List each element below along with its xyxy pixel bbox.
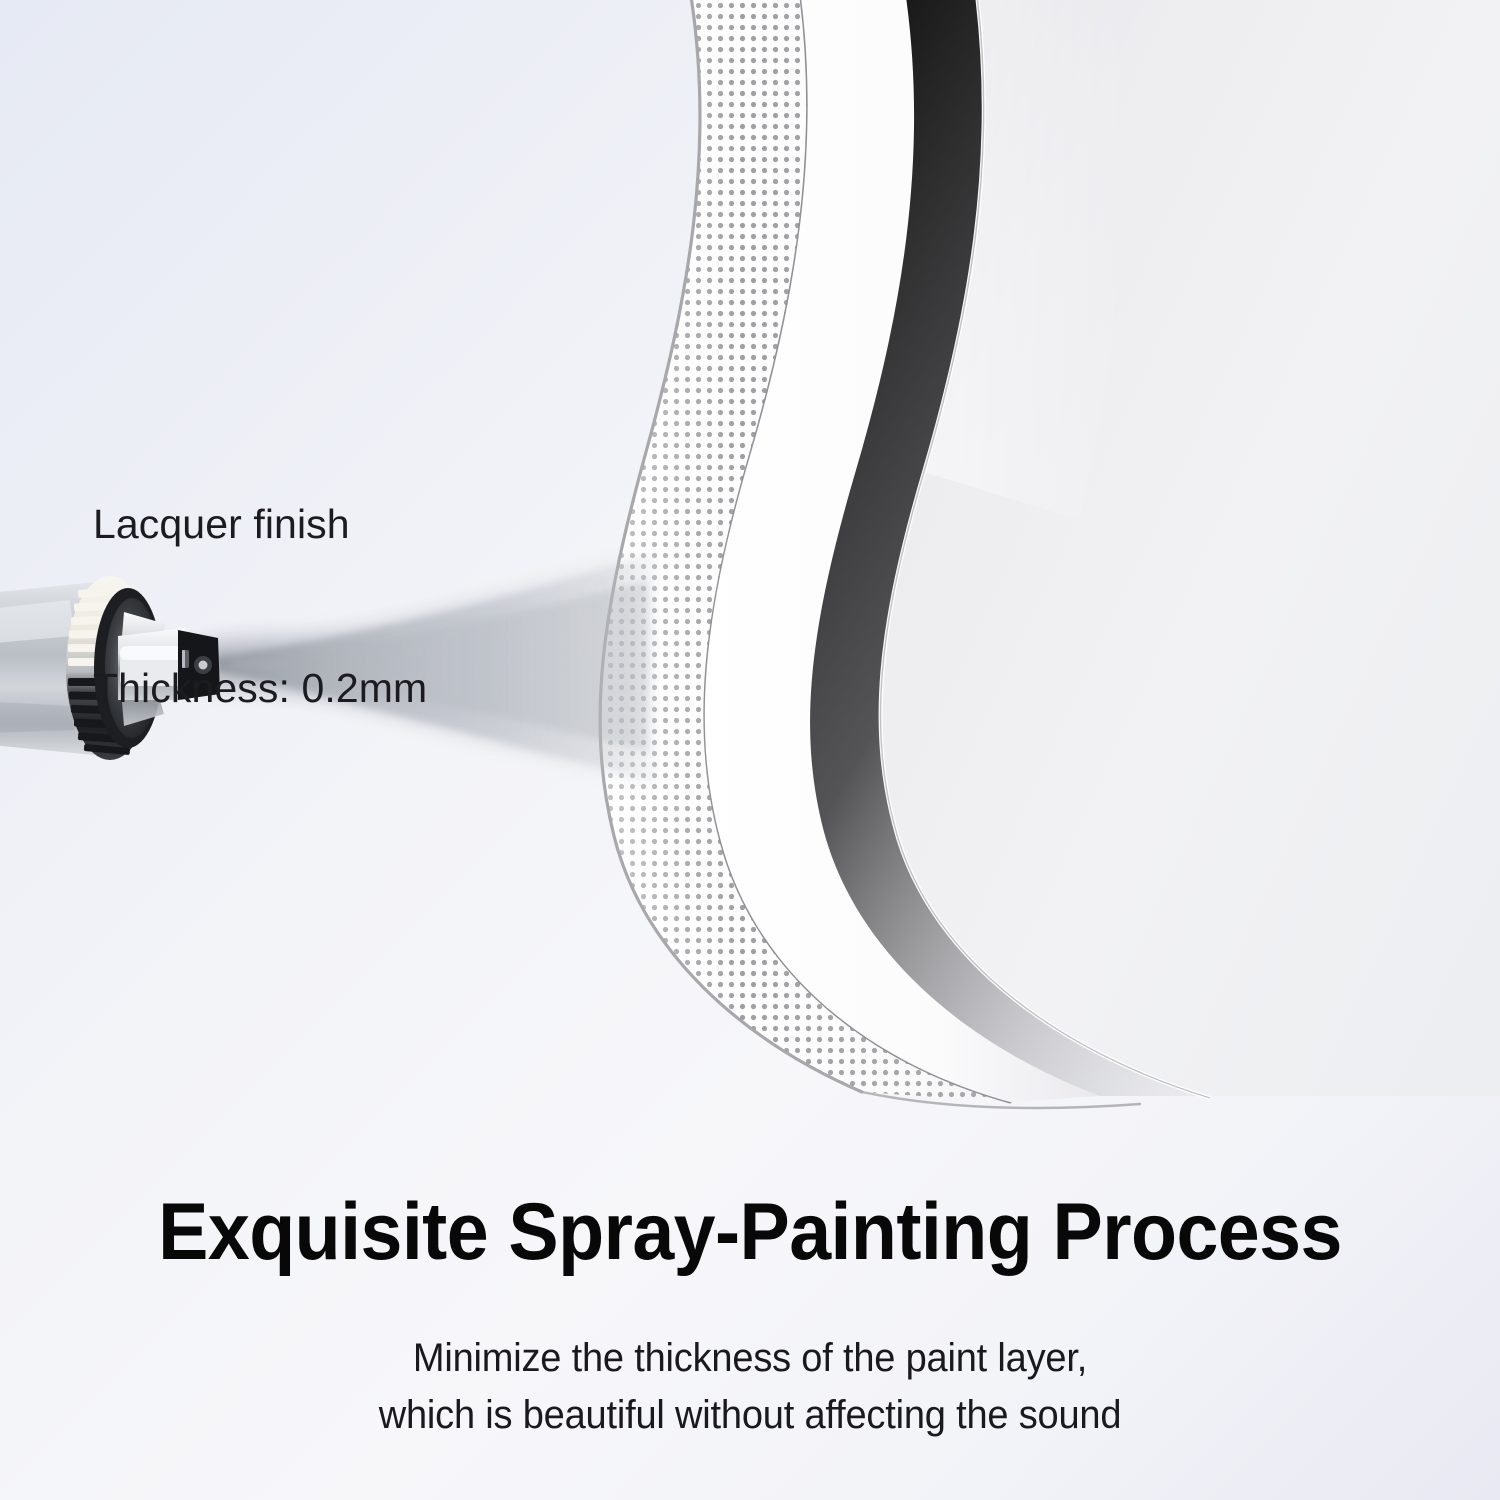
page-title: Exquisite Spray-Painting Process xyxy=(53,1192,1448,1273)
product-feature-image: Lacquer finish Thickness: 0.2mm Exquisit… xyxy=(0,0,1500,1500)
callout-line-2: Thickness: 0.2mm xyxy=(93,661,427,716)
subtitle-line-1: Minimize the thickness of the paint laye… xyxy=(38,1330,1463,1387)
callout-line-1: Lacquer finish xyxy=(93,497,427,552)
page-subtitle: Minimize the thickness of the paint laye… xyxy=(38,1330,1463,1444)
subtitle-line-2: which is beautiful without affecting the… xyxy=(38,1387,1463,1444)
lacquer-callout: Lacquer finish Thickness: 0.2mm xyxy=(93,388,427,824)
